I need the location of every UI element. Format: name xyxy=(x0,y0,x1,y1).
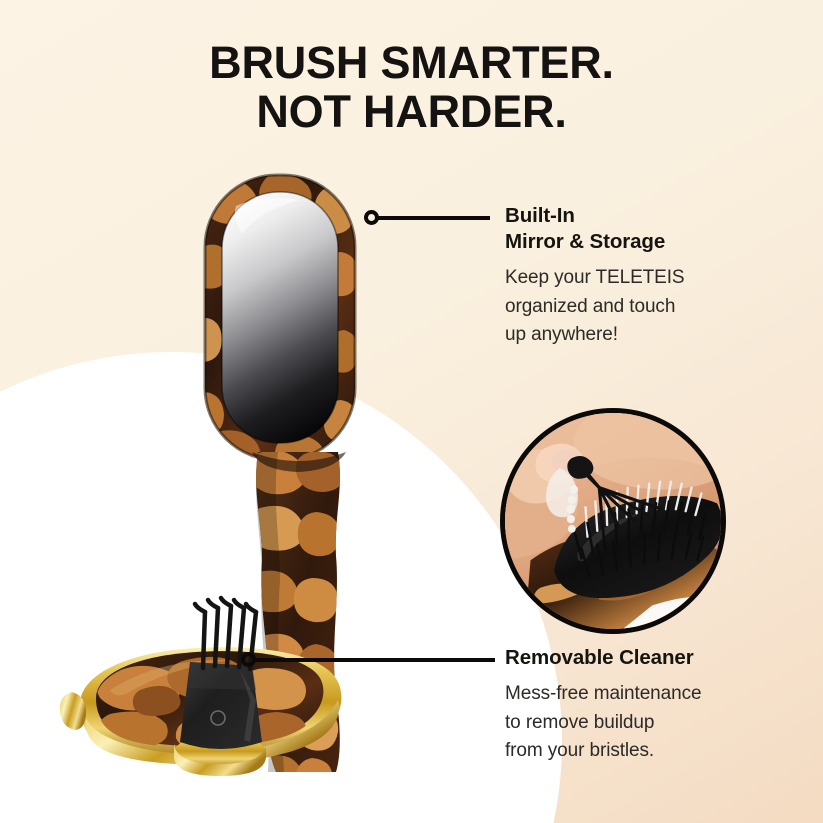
leader-ring-mirror xyxy=(364,210,379,225)
infographic-canvas: BRUSH SMARTER. NOT HARDER. xyxy=(0,0,823,823)
mirror-surface xyxy=(222,192,338,443)
callout-removable-cleaner: Removable Cleaner Mess-free maintenance … xyxy=(505,645,773,766)
callout-2-body: Mess-free maintenance to remove buildup … xyxy=(505,680,773,766)
callout-2-title: Removable Cleaner xyxy=(505,645,773,671)
removable-cleaner-tool xyxy=(174,598,266,776)
callout-built-in-mirror-storage: Built-In Mirror & Storage Keep your TELE… xyxy=(505,203,773,350)
callout-1-body: Keep your TELETEIS organized and touch u… xyxy=(505,264,773,350)
callout-2-body-line-2: to remove buildup xyxy=(505,712,654,733)
callout-1-title-line-2: Mirror & Storage xyxy=(505,230,665,253)
callout-1-body-line-2: organized and touch xyxy=(505,296,675,317)
bristle-cleaning-photo-inset xyxy=(500,408,726,634)
leader-line-mirror xyxy=(378,216,490,220)
callout-2-body-line-3: from your bristles. xyxy=(505,740,654,761)
leader-line-cleaner xyxy=(255,658,495,662)
callout-1-title: Built-In Mirror & Storage xyxy=(505,203,773,255)
callout-1-title-line-1: Built-In xyxy=(505,204,575,227)
callout-2-title-line-1: Removable Cleaner xyxy=(505,646,694,669)
callout-1-body-line-1: Keep your TELETEIS xyxy=(505,267,685,288)
callout-1-body-line-3: up anywhere! xyxy=(505,324,618,345)
leader-ring-cleaner xyxy=(241,652,256,667)
callout-2-body-line-1: Mess-free maintenance xyxy=(505,683,701,704)
